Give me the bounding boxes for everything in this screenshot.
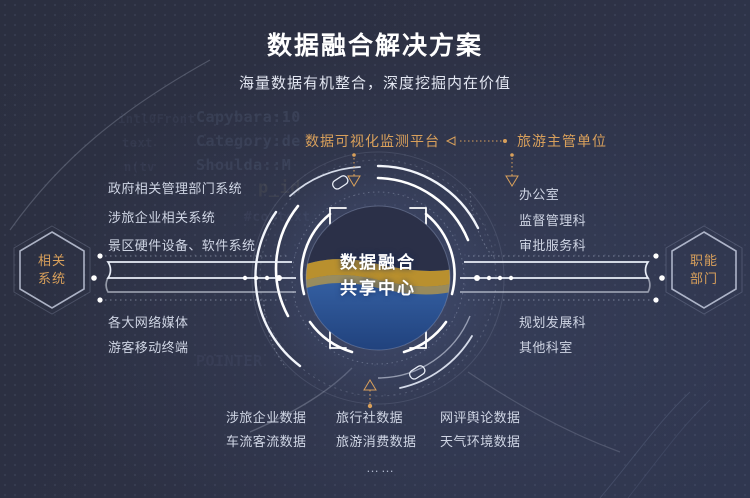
data-grid-ellipsis: …… [226,460,536,475]
data-cell-0-1[interactable]: 旅行社数据 [336,406,440,430]
left-item-4[interactable]: 游客移动终端 [108,337,188,356]
code-line: Category:de [196,132,301,150]
core-hub-line1: 数据融合 [303,250,453,276]
left-item-3[interactable]: 各大网络媒体 [108,312,188,331]
code-line: intl0Front [118,112,195,126]
page-subtitle: 海量数据有机整合，深度挖掘内在价值 [0,72,750,93]
code-line: #context [244,210,311,225]
left-item-0[interactable]: 政府相关管理部门系统 [108,178,242,197]
left-item-2[interactable]: 景区硬件设备、软件系统 [108,235,255,254]
label-tourism-authority[interactable]: 旅游主管单位 [517,131,607,151]
badge-functional-departments[interactable]: 职能 部门 [662,224,746,316]
right-item-2[interactable]: 审批服务科 [519,235,586,254]
core-hub-label: 数据融合 共享中心 [303,250,453,301]
code-line: p_id [258,178,301,198]
left-item-1[interactable]: 涉旅企业相关系统 [108,207,215,226]
code-line: POINTER [196,352,263,370]
badge-related-systems-line1: 相关 [38,252,66,270]
data-cell-0-0[interactable]: 涉旅企业数据 [226,406,336,430]
right-item-1[interactable]: 监督管理科 [519,210,586,229]
right-item-3[interactable]: 规划发展科 [519,312,586,331]
data-cell-1-1[interactable]: 旅游消费数据 [336,430,440,454]
code-line: Capybara:10 [196,108,301,126]
infographic-canvas: Capybara:10 Category:de Shoulda::M intl0… [0,0,750,498]
table-row: 车流客流数据 旅游消费数据 天气环境数据 [226,430,536,454]
data-cell-1-2[interactable]: 天气环境数据 [440,430,536,454]
badge-functional-departments-line2: 部门 [690,270,718,288]
bottom-data-grid: 涉旅企业数据 旅行社数据 网评舆论数据 车流客流数据 旅游消费数据 天气环境数据 [226,406,536,454]
badge-related-systems[interactable]: 相关 系统 [10,224,94,316]
code-line: n(tv [124,160,155,174]
data-cell-0-2[interactable]: 网评舆论数据 [440,406,536,430]
badge-functional-departments-line1: 职能 [690,252,718,270]
right-item-0[interactable]: 办公室 [519,184,559,203]
right-item-4[interactable]: 其他科室 [519,337,573,356]
page-title: 数据融合解决方案 [0,26,750,62]
label-visualization-platform[interactable]: 数据可视化监测平台 [305,131,440,151]
data-cell-1-0[interactable]: 车流客流数据 [226,430,336,454]
core-hub-line2: 共享中心 [303,276,453,302]
badge-related-systems-line2: 系统 [38,270,66,288]
code-line: Shoulda::M [196,156,291,174]
table-row: 涉旅企业数据 旅行社数据 网评舆论数据 [226,406,536,430]
code-line: text [122,136,153,150]
